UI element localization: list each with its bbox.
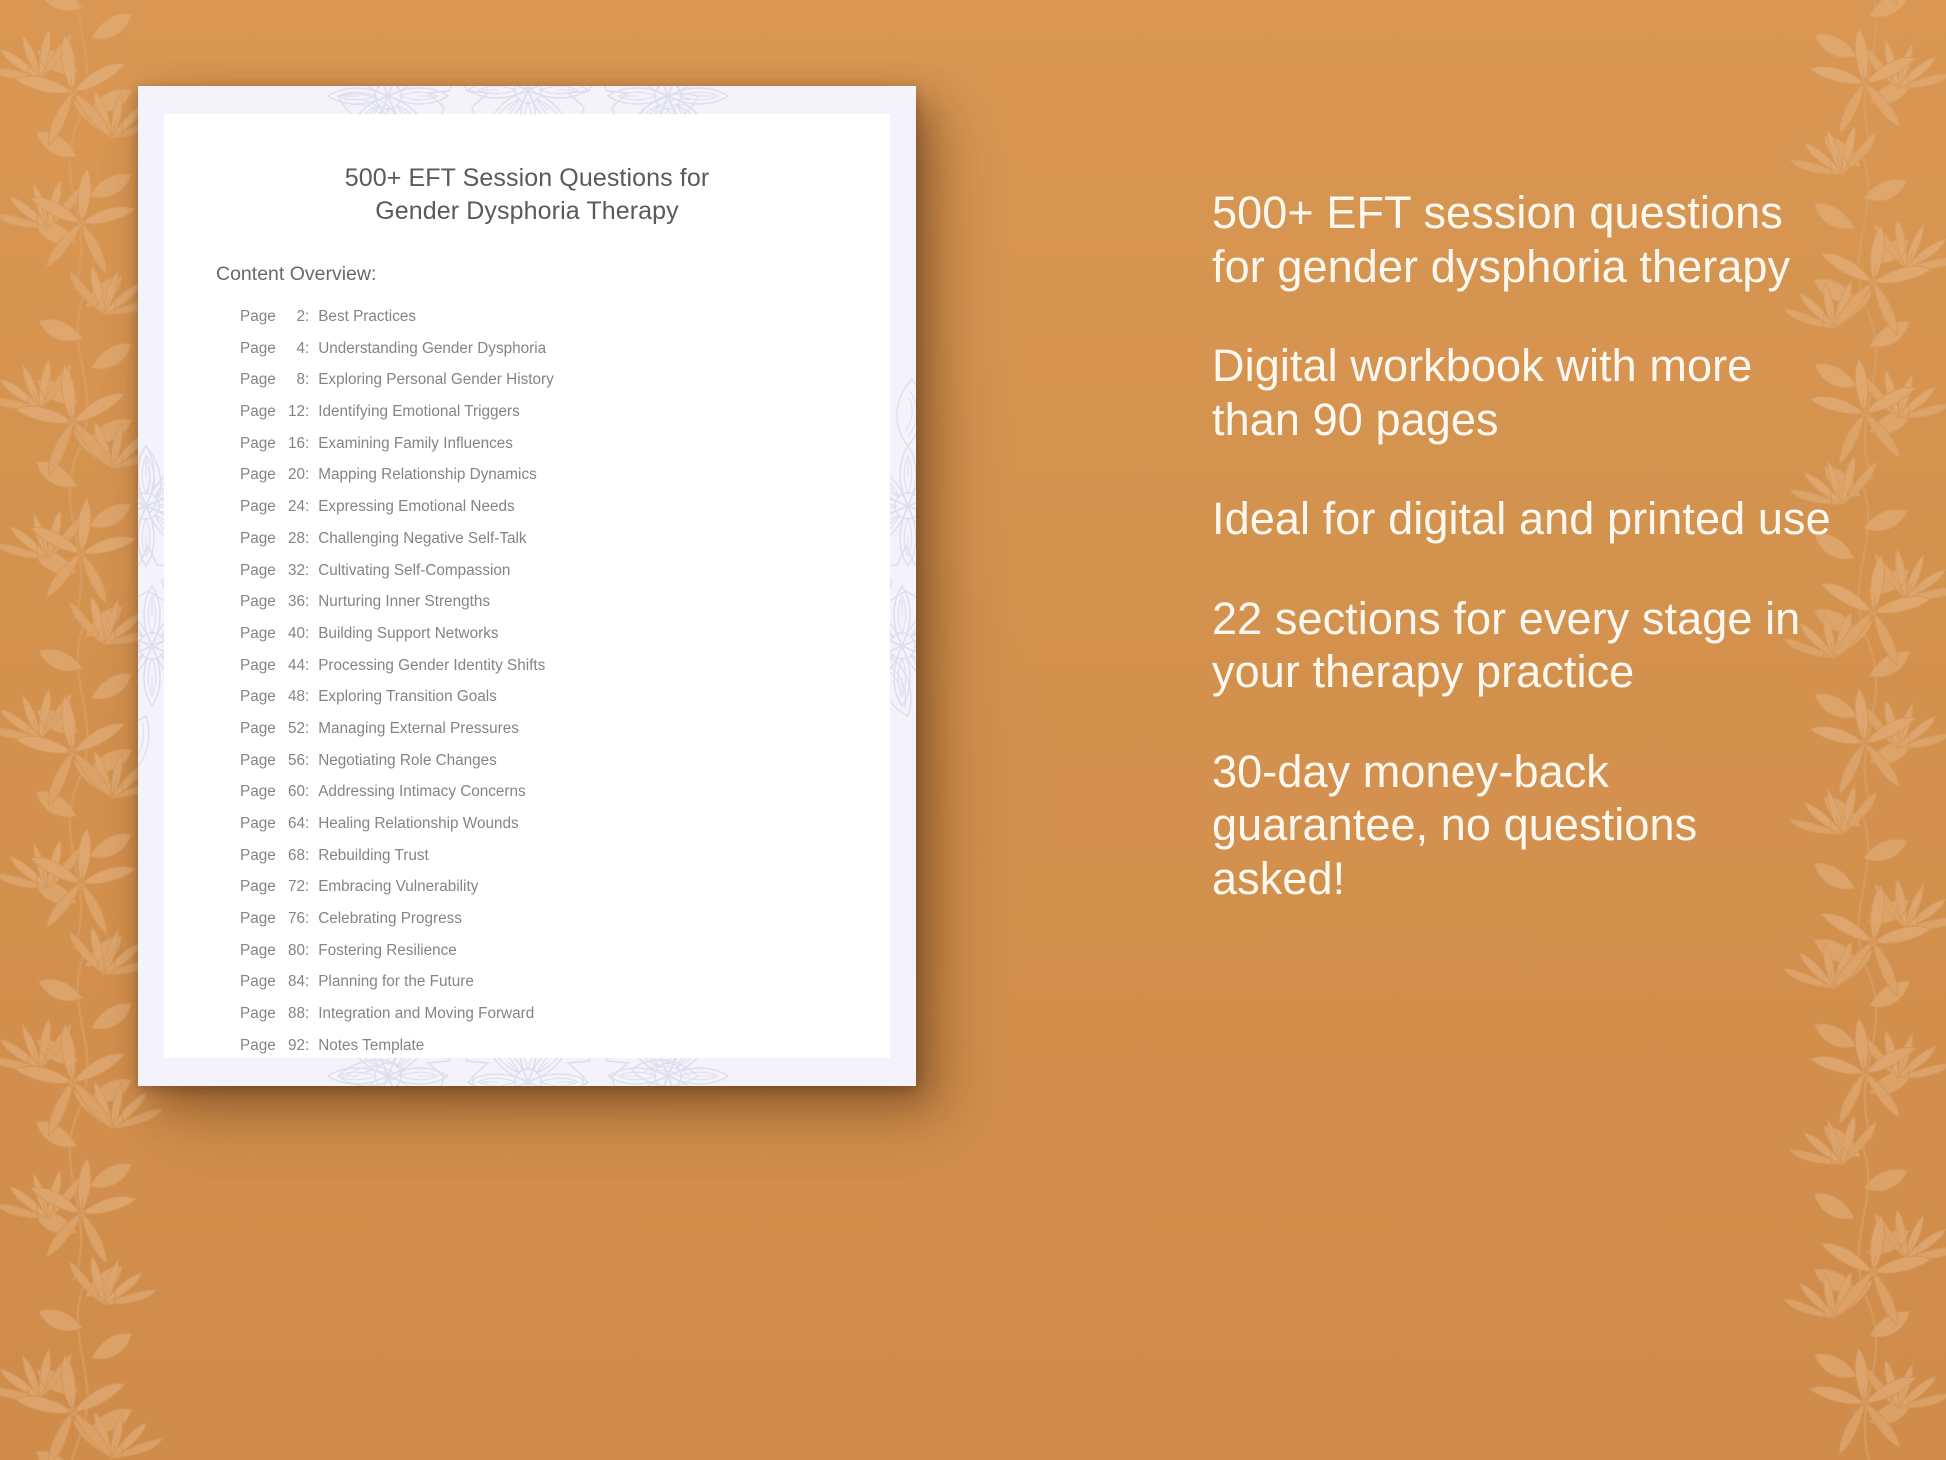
toc-entry: Page 20:Mapping Relationship Dynamics	[240, 466, 890, 498]
toc-entry: Page 64:Healing Relationship Wounds	[240, 815, 890, 847]
toc-page-word: Page	[240, 688, 280, 706]
toc-entry: Page 88:Integration and Moving Forward	[240, 1005, 890, 1037]
toc-page-number: 84	[280, 973, 305, 991]
toc-entry-title: Understanding Gender Dysphoria	[318, 340, 546, 358]
toc-page-number: 2	[280, 308, 305, 326]
toc-page-number: 80	[280, 942, 305, 960]
toc-entry-title: Processing Gender Identity Shifts	[318, 657, 545, 675]
toc-entry: Page 68:Rebuilding Trust	[240, 847, 890, 879]
toc-page-word: Page	[240, 847, 280, 865]
toc-page-number: 20	[280, 466, 305, 484]
toc-entry-title: Healing Relationship Wounds	[318, 815, 518, 833]
toc-colon: :	[305, 688, 318, 706]
toc-page-word: Page	[240, 910, 280, 928]
toc-entry-title: Examining Family Influences	[318, 435, 513, 453]
toc-colon: :	[305, 530, 318, 548]
toc-entry: Page 84:Planning for the Future	[240, 973, 890, 1005]
toc-page-word: Page	[240, 466, 280, 484]
marketing-bullet: 22 sections for every stage in your ther…	[1212, 592, 1832, 699]
toc-page-word: Page	[240, 530, 280, 548]
toc-page-number: 24	[280, 498, 305, 516]
marketing-bullet: Digital workbook with more than 90 pages	[1212, 339, 1832, 446]
toc-entry-title: Negotiating Role Changes	[318, 752, 497, 770]
toc-colon: :	[305, 466, 318, 484]
toc-colon: :	[305, 657, 318, 675]
marketing-bullet: Ideal for digital and printed use	[1212, 492, 1832, 546]
toc-colon: :	[305, 815, 318, 833]
toc-page-number: 92	[280, 1037, 305, 1055]
toc-entry-title: Challenging Negative Self-Talk	[318, 530, 526, 548]
toc-colon: :	[305, 562, 318, 580]
toc-page-number: 16	[280, 435, 305, 453]
toc-entry-title: Managing External Pressures	[318, 720, 519, 738]
toc-page-number: 8	[280, 371, 305, 389]
toc-entry: Page 40:Building Support Networks	[240, 625, 890, 657]
toc-entry: Page 24:Expressing Emotional Needs	[240, 498, 890, 530]
toc-entry: Page 8:Exploring Personal Gender History	[240, 371, 890, 403]
toc-page-number: 56	[280, 752, 305, 770]
toc-colon: :	[305, 625, 318, 643]
toc-page-number: 68	[280, 847, 305, 865]
content-overview-label: Content Overview:	[164, 227, 890, 286]
toc-colon: :	[305, 308, 318, 326]
toc-page-number: 44	[280, 657, 305, 675]
toc-page-word: Page	[240, 783, 280, 801]
toc-page-word: Page	[240, 562, 280, 580]
toc-page-word: Page	[240, 815, 280, 833]
toc-page-number: 60	[280, 783, 305, 801]
toc-colon: :	[305, 878, 318, 896]
toc-colon: :	[305, 498, 318, 516]
toc-entry-title: Integration and Moving Forward	[318, 1005, 534, 1023]
toc-entry: Page 76:Celebrating Progress	[240, 910, 890, 942]
toc-colon: :	[305, 783, 318, 801]
toc-entry-title: Nurturing Inner Strengths	[318, 593, 490, 611]
toc-page-number: 28	[280, 530, 305, 548]
toc-page-word: Page	[240, 498, 280, 516]
toc-entry: Page 92:Notes Template	[240, 1037, 890, 1069]
toc-entry: Page 60:Addressing Intimacy Concerns	[240, 783, 890, 815]
toc-page-word: Page	[240, 435, 280, 453]
toc-colon: :	[305, 435, 318, 453]
toc-page-word: Page	[240, 340, 280, 358]
table-of-contents: Page 2:Best PracticesPage 4:Understandin…	[164, 286, 890, 1069]
toc-entry-title: Expressing Emotional Needs	[318, 498, 514, 516]
toc-colon: :	[305, 371, 318, 389]
toc-page-number: 72	[280, 878, 305, 896]
toc-page-word: Page	[240, 593, 280, 611]
toc-page-word: Page	[240, 942, 280, 960]
toc-entry: Page 72:Embracing Vulnerability	[240, 878, 890, 910]
toc-colon: :	[305, 1005, 318, 1023]
toc-page-number: 32	[280, 562, 305, 580]
toc-page-number: 40	[280, 625, 305, 643]
toc-entry-title: Notes Template	[318, 1037, 424, 1055]
toc-colon: :	[305, 942, 318, 960]
toc-entry-title: Building Support Networks	[318, 625, 498, 643]
toc-entry-title: Rebuilding Trust	[318, 847, 429, 865]
toc-entry-title: Fostering Resilience	[318, 942, 457, 960]
toc-colon: :	[305, 752, 318, 770]
toc-colon: :	[305, 403, 318, 421]
marketing-bullet: 500+ EFT session questions for gender dy…	[1212, 186, 1832, 293]
marketing-copy-column: 500+ EFT session questions for gender dy…	[1212, 186, 1832, 905]
toc-page-word: Page	[240, 720, 280, 738]
toc-page-word: Page	[240, 1005, 280, 1023]
toc-entry: Page 4:Understanding Gender Dysphoria	[240, 340, 890, 372]
toc-page-word: Page	[240, 371, 280, 389]
toc-page-word: Page	[240, 878, 280, 896]
toc-entry-title: Identifying Emotional Triggers	[318, 403, 520, 421]
marketing-bullet: 30-day money-back guarantee, no question…	[1212, 745, 1832, 906]
toc-entry: Page 52:Managing External Pressures	[240, 720, 890, 752]
toc-colon: :	[305, 847, 318, 865]
toc-entry-title: Celebrating Progress	[318, 910, 462, 928]
toc-page-word: Page	[240, 308, 280, 326]
toc-entry: Page 36:Nurturing Inner Strengths	[240, 593, 890, 625]
toc-entry: Page 56:Negotiating Role Changes	[240, 752, 890, 784]
toc-colon: :	[305, 973, 318, 991]
toc-page-word: Page	[240, 403, 280, 421]
toc-colon: :	[305, 910, 318, 928]
toc-page-word: Page	[240, 752, 280, 770]
toc-page-number: 76	[280, 910, 305, 928]
toc-entry: Page 32:Cultivating Self-Compassion	[240, 562, 890, 594]
toc-page-word: Page	[240, 1037, 280, 1055]
toc-entry-title: Cultivating Self-Compassion	[318, 562, 510, 580]
toc-page-number: 48	[280, 688, 305, 706]
toc-colon: :	[305, 720, 318, 738]
toc-entry-title: Embracing Vulnerability	[318, 878, 478, 896]
toc-page-number: 12	[280, 403, 305, 421]
toc-colon: :	[305, 340, 318, 358]
toc-entry-title: Addressing Intimacy Concerns	[318, 783, 525, 801]
toc-entry: Page 28:Challenging Negative Self-Talk	[240, 530, 890, 562]
toc-colon: :	[305, 593, 318, 611]
toc-entry-title: Mapping Relationship Dynamics	[318, 466, 537, 484]
toc-entry: Page 44:Processing Gender Identity Shift…	[240, 657, 890, 689]
toc-page-word: Page	[240, 625, 280, 643]
toc-entry: Page 2:Best Practices	[240, 308, 890, 340]
toc-page-number: 88	[280, 1005, 305, 1023]
toc-entry: Page 48:Exploring Transition Goals	[240, 688, 890, 720]
toc-colon: :	[305, 1037, 318, 1055]
document-page: 500+ EFT Session Questions for Gender Dy…	[138, 86, 916, 1086]
toc-entry-title: Exploring Personal Gender History	[318, 371, 554, 389]
toc-entry-title: Exploring Transition Goals	[318, 688, 497, 706]
toc-page-word: Page	[240, 973, 280, 991]
toc-entry: Page 80:Fostering Resilience	[240, 942, 890, 974]
toc-entry-title: Planning for the Future	[318, 973, 474, 991]
toc-page-number: 4	[280, 340, 305, 358]
toc-page-word: Page	[240, 657, 280, 675]
page-content-area: 500+ EFT Session Questions for Gender Dy…	[164, 114, 890, 1058]
toc-entry: Page 16:Examining Family Influences	[240, 435, 890, 467]
toc-entry: Page 12:Identifying Emotional Triggers	[240, 403, 890, 435]
toc-page-number: 52	[280, 720, 305, 738]
toc-page-number: 36	[280, 593, 305, 611]
toc-page-number: 64	[280, 815, 305, 833]
toc-entry-title: Best Practices	[318, 308, 416, 326]
page-title: 500+ EFT Session Questions for Gender Dy…	[164, 114, 890, 227]
